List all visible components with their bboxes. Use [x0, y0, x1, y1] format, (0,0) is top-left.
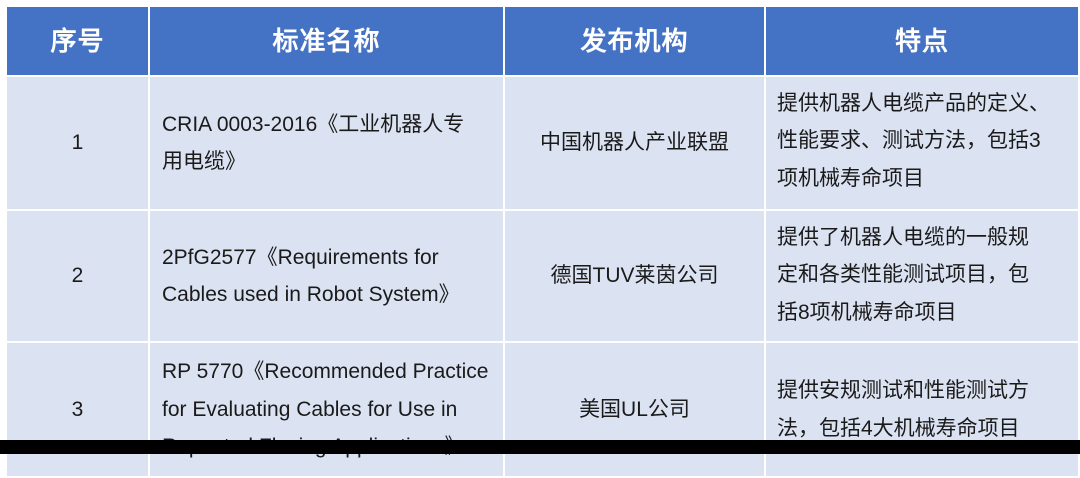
- table-row: 1 CRIA 0003-2016《工业机器人专 用电缆》 中国机器人产业联盟 提…: [7, 77, 1078, 209]
- cell-feature-text: 提供机器人电缆产品的定义、 性能要求、测试方法，包括3 项机械寿命项目: [777, 85, 1068, 197]
- cell-index: 3: [7, 343, 148, 476]
- cell-index-text: 2: [7, 257, 148, 294]
- cell-issuing-organization: 中国机器人产业联盟: [505, 77, 764, 209]
- cell-issuing-organization-text: 德国TUV莱茵公司: [511, 257, 758, 294]
- cell-index: 1: [7, 77, 148, 209]
- cell-issuing-organization-text: 中国机器人产业联盟: [511, 124, 758, 161]
- column-header-feature: 特点: [766, 7, 1078, 75]
- cell-index-text: 3: [7, 391, 148, 428]
- cell-issuing-organization: 美国UL公司: [505, 343, 764, 476]
- cell-feature: 提供了机器人电缆的一般规 定和各类性能测试项目，包 括8项机械寿命项目: [766, 211, 1078, 341]
- table-header-row: 序号 标准名称 发布机构 特点: [7, 7, 1078, 75]
- column-header-index: 序号: [7, 7, 148, 75]
- column-header-name: 标准名称: [150, 7, 503, 75]
- bottom-black-band: [0, 440, 1080, 454]
- cell-issuing-organization-text: 美国UL公司: [511, 391, 758, 428]
- standards-table: 序号 标准名称 发布机构 特点 1 CRIA 0003-2016《工业机器人专 …: [5, 5, 1080, 478]
- column-header-org: 发布机构: [505, 7, 764, 75]
- cell-standard-name: CRIA 0003-2016《工业机器人专 用电缆》: [150, 77, 503, 209]
- cell-index-text: 1: [7, 124, 148, 161]
- table-body: 1 CRIA 0003-2016《工业机器人专 用电缆》 中国机器人产业联盟 提…: [7, 77, 1078, 476]
- table-row: 2 2PfG2577《Requirements for Cables used …: [7, 211, 1078, 341]
- cell-standard-name: 2PfG2577《Requirements for Cables used in…: [150, 211, 503, 341]
- cell-standard-name: RP 5770《Recommended Practice for Evaluat…: [150, 343, 503, 476]
- standards-table-container: 序号 标准名称 发布机构 特点 1 CRIA 0003-2016《工业机器人专 …: [5, 5, 1074, 440]
- table-header: 序号 标准名称 发布机构 特点: [7, 7, 1078, 75]
- cell-feature-text: 提供安规测试和性能测试方 法，包括4大机械寿命项目: [777, 372, 1068, 447]
- cell-feature: 提供安规测试和性能测试方 法，包括4大机械寿命项目: [766, 343, 1078, 476]
- cell-index: 2: [7, 211, 148, 341]
- cell-standard-name-text: 2PfG2577《Requirements for Cables used in…: [162, 239, 495, 314]
- cell-feature-text: 提供了机器人电缆的一般规 定和各类性能测试项目，包 括8项机械寿命项目: [777, 219, 1068, 331]
- cell-issuing-organization: 德国TUV莱茵公司: [505, 211, 764, 341]
- table-row: 3 RP 5770《Recommended Practice for Evalu…: [7, 343, 1078, 476]
- cell-feature: 提供机器人电缆产品的定义、 性能要求、测试方法，包括3 项机械寿命项目: [766, 77, 1078, 209]
- cell-standard-name-text: CRIA 0003-2016《工业机器人专 用电缆》: [162, 106, 495, 181]
